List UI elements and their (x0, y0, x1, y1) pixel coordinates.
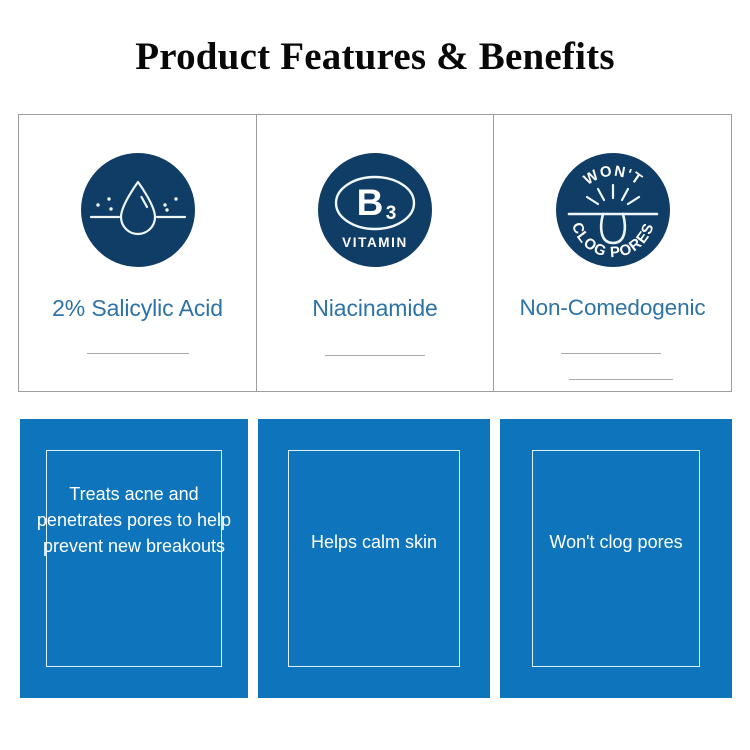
product-features-infographic: Product Features & Benefits 2% (0, 0, 750, 750)
panel-inner-frame (532, 450, 700, 667)
feature-card-label: Non-Comedogenic (494, 295, 731, 321)
divider-rule (87, 353, 189, 354)
divider-rule-secondary (569, 379, 673, 380)
benefit-panel-treats-acne[interactable]: Treats acne and penetrates pores to help… (20, 419, 248, 698)
benefit-panel-wont-clog[interactable]: Won't clog pores (500, 419, 732, 698)
benefit-panel-text: Helps calm skin (258, 529, 490, 555)
benefit-panel-text: Treats acne and penetrates pores to help… (20, 481, 248, 559)
svg-text:B: B (357, 182, 384, 223)
feature-card-salicylic-acid[interactable]: 2% Salicylic Acid (18, 114, 257, 392)
wont-clog-pores-icon: WON'T CLOG PORES (556, 153, 670, 267)
divider-rule (561, 353, 661, 354)
benefit-panel-text: Won't clog pores (500, 529, 732, 555)
feature-card-label: 2% Salicylic Acid (19, 295, 256, 322)
divider-rule (325, 355, 425, 356)
feature-card-label: Niacinamide (257, 295, 493, 322)
vitamin-b3-icon: B 3 VITAMIN (318, 153, 432, 267)
panel-inner-frame (288, 450, 460, 667)
feature-card-non-comedogenic[interactable]: WON'T CLOG PORES Non-Comedogenic (493, 114, 732, 392)
benefit-panel-calm-skin[interactable]: Helps calm skin (258, 419, 490, 698)
svg-text:VITAMIN: VITAMIN (342, 235, 408, 250)
svg-text:3: 3 (386, 203, 397, 224)
droplet-skin-icon (81, 153, 195, 267)
page-title: Product Features & Benefits (0, 34, 750, 79)
feature-card-niacinamide[interactable]: B 3 VITAMIN Niacinamide (256, 114, 494, 392)
